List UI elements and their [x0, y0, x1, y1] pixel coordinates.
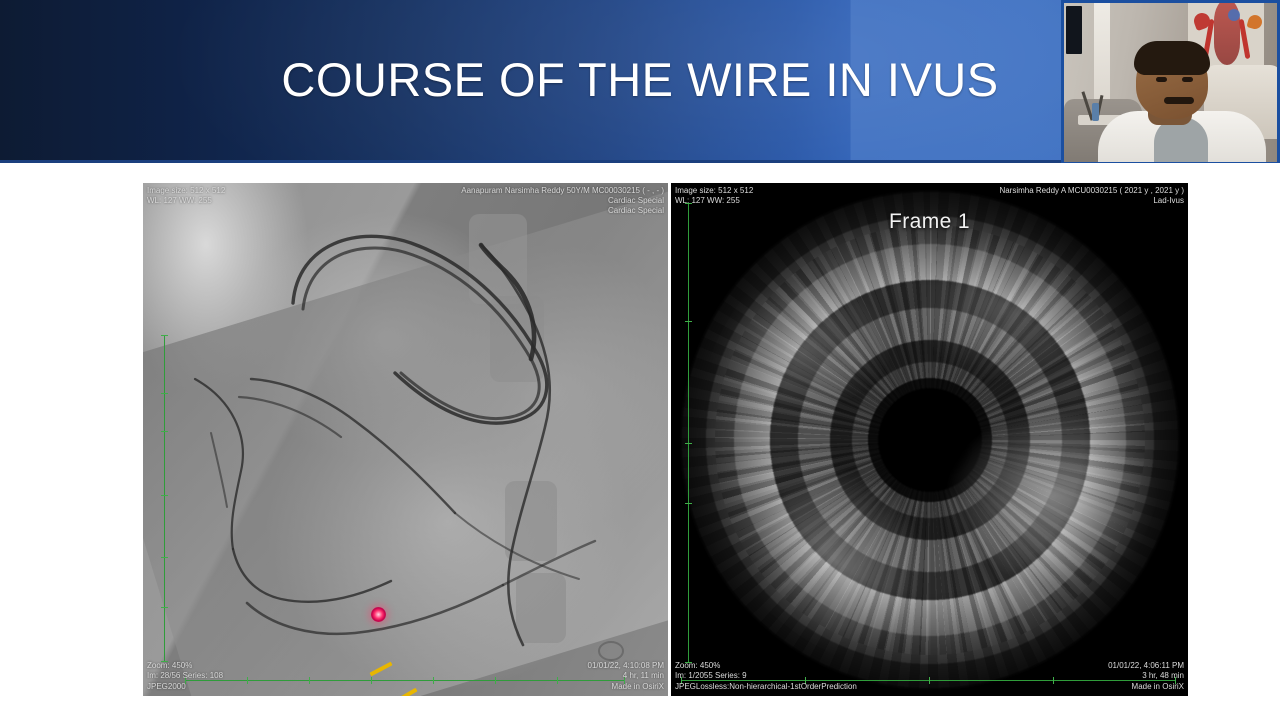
angiogram-viewport[interactable]: Image size: 512 x 512 WL: 127 WW: 255 Aa…: [143, 183, 668, 696]
left-series-label-1: Cardiac Special: [608, 196, 664, 206]
horizontal-scale-ruler: [681, 680, 1176, 681]
vertical-scale-ruler: [164, 335, 165, 662]
light-panel: [1094, 3, 1110, 107]
left-datetime-label: 01/01/22, 4:10:08 PM: [588, 661, 665, 671]
right-transfer-syntax: JPEGLossless:Non-hierarchical-1stOrderPr…: [675, 682, 857, 692]
presenter-video-tile[interactable]: [1061, 0, 1280, 165]
ivus-image: [671, 183, 1188, 696]
right-series-label-1: Lad-Ivus: [1153, 196, 1184, 206]
left-zoom-label: Zoom: 450%: [147, 661, 192, 671]
left-transfer-syntax: JPEG2000: [147, 682, 186, 692]
left-series-label-2: Cardiac Special: [608, 206, 664, 216]
left-credit-label: Made in OsiriX: [612, 682, 664, 692]
guidewire-and-catheter-overlay: [143, 183, 668, 696]
wall-monitor: [1066, 6, 1082, 54]
presenter-eye-left: [1156, 77, 1167, 82]
video-scene: [1064, 3, 1277, 162]
frame-counter-label: Frame 1: [671, 210, 1188, 234]
right-credit-label: Made in OsiriX: [1132, 682, 1184, 692]
left-patient-label: Aanapuram Narsimha Reddy 50Y/M MC0003021…: [461, 186, 664, 196]
left-elapsed-label: 4 hr, 11 min: [623, 671, 664, 681]
right-elapsed-label: 3 hr, 48 min: [1142, 671, 1184, 681]
ivus-vignette: [671, 183, 1188, 696]
presenter-eye-right: [1182, 77, 1193, 82]
left-image-size-label: Image size: 512 x 512: [147, 186, 225, 196]
right-datetime-label: 01/01/22, 4:06:11 PM: [1108, 661, 1184, 671]
horizontal-scale-ruler: [185, 680, 625, 681]
vertical-scale-ruler: [688, 203, 689, 663]
right-image-size-label: Image size: 512 x 512: [675, 186, 753, 196]
right-patient-label: Narsimha Reddy A MCU0030215 ( 2021 y , 2…: [999, 186, 1184, 196]
presenter-moustache: [1164, 97, 1194, 104]
angiogram-image: [143, 183, 668, 696]
right-zoom-label: Zoom: 450%: [675, 661, 720, 671]
ivus-viewport[interactable]: Frame 1 Image size: 512 x 512 WL: 127 WW…: [671, 183, 1188, 696]
left-image-index: Im: 28/56 Series: 108: [147, 671, 223, 681]
slide-body: Image size: 512 x 512 WL: 127 WW: 255 Aa…: [0, 163, 1280, 720]
red-target-marker: [371, 607, 386, 622]
left-window-level-label: WL: 127 WW: 255: [147, 196, 212, 206]
presenter-hair: [1134, 41, 1210, 75]
right-image-index: Im: 1/2055 Series: 9: [675, 671, 747, 681]
right-window-level-label: WL: 127 WW: 255: [675, 196, 740, 206]
bottle: [1092, 103, 1099, 121]
